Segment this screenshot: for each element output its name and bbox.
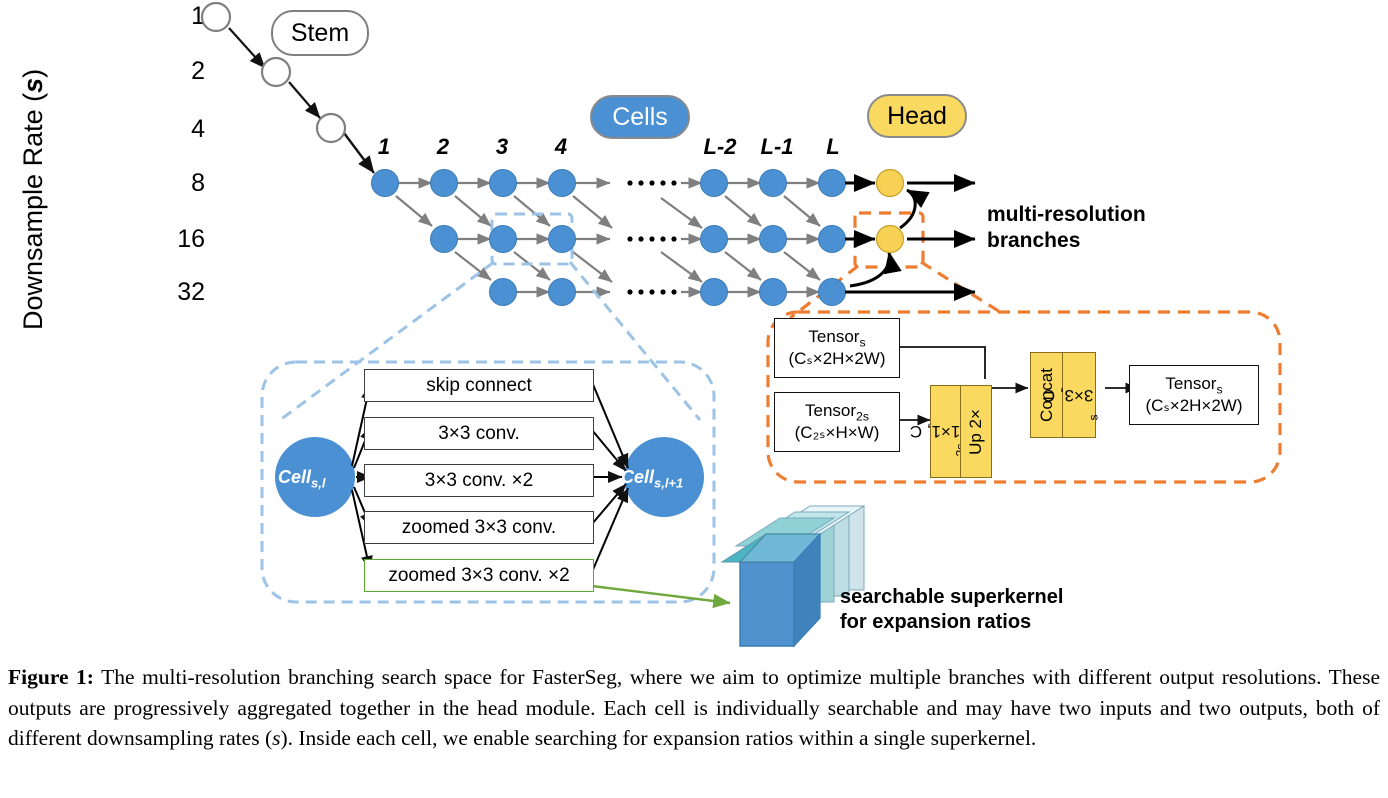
head-input-tensor-s-shape: (Cₛ×2H×2W) xyxy=(788,349,885,369)
stem-chain xyxy=(202,3,374,173)
head-op-conv-1x1: 1×1, C2s xyxy=(930,385,962,478)
cell-node-r8-c1 xyxy=(372,170,399,197)
stem-node-s2 xyxy=(262,58,290,86)
head-input-tensor-s: Tensors (Cₛ×2H×2W) xyxy=(774,318,900,378)
cell-node-r8-cL xyxy=(819,170,846,197)
head-input-tensor-s-name: Tensors xyxy=(808,327,865,349)
cell-node-r8-c4 xyxy=(549,170,576,197)
grid-ellipsis-row-32 xyxy=(627,289,676,294)
head-input-tensor-2s-name: Tensor2s xyxy=(805,401,869,423)
superkernel-link-arrow xyxy=(592,586,730,603)
cell-op-zoomed-conv-3x3-x2[interactable]: zoomed 3×3 conv. ×2 xyxy=(364,559,594,592)
tensor-top-name: Tensor xyxy=(808,327,859,346)
superkernel-label: searchable superkernel for expansion rat… xyxy=(840,585,1063,635)
conv3x3-sub: s xyxy=(1086,414,1100,420)
head-aggregate-arrow-16-to-8 xyxy=(900,190,915,228)
figure-caption: Figure 1: The multi-resolution branching… xyxy=(8,662,1380,754)
head-op-upsample-2x-text: Up 2× xyxy=(966,409,986,455)
grid-cell-nodes xyxy=(372,170,846,306)
head-output-tensor-s: Tensors (Cₛ×2H×2W) xyxy=(1129,365,1259,425)
head-output-tensor-name: Tensors xyxy=(1165,374,1222,396)
head-node-r8 xyxy=(877,170,904,197)
cell-node-r8-cL2 xyxy=(701,170,728,197)
head-output-tensor-shape: (Cₛ×2H×2W) xyxy=(1145,396,1242,416)
head-nodes xyxy=(877,170,904,253)
conv3x3-label: 3×3, C xyxy=(1043,385,1094,405)
tensor-top-sub: s xyxy=(859,335,865,349)
cell-node-r8-c3 xyxy=(490,170,517,197)
stem-node-s1 xyxy=(202,3,230,31)
cell-node-r8-c2 xyxy=(431,170,458,197)
cell-op-zoomed-conv-3x3[interactable]: zoomed 3×3 conv. xyxy=(364,511,594,544)
head-input-tensor-2s: Tensor2s (C₂ₛ×H×W) xyxy=(774,392,900,452)
stem-node-s4 xyxy=(317,114,345,142)
figure-1-container: Downsample Rate (s) 1 2 4 8 16 32 1 2 3 … xyxy=(0,0,1388,798)
cell-node-r16-c3 xyxy=(490,226,517,253)
cell-node-r8-cL1 xyxy=(760,170,787,197)
grid-ellipsis-row-16 xyxy=(627,236,676,241)
superkernel-label-line-2: for expansion ratios xyxy=(840,610,1063,635)
cell-node-r16-c2 xyxy=(431,226,458,253)
cell-node-r16-cL1 xyxy=(760,226,787,253)
caption-text-2: ). Inside each cell, we enable searching… xyxy=(280,726,1036,750)
head-op-conv-3x3: 3×3, Cs xyxy=(1062,352,1096,438)
superkernel-label-line-1: searchable superkernel xyxy=(840,585,1063,610)
conv1x1-label: 1×1, C xyxy=(910,421,961,441)
head-output-arrows xyxy=(845,183,975,292)
cell-node-r16-cL xyxy=(819,226,846,253)
head-op-upsample-2x: Up 2× xyxy=(960,385,992,478)
tensor-bottom-sub: 2s xyxy=(856,409,869,423)
tensor-bottom-name: Tensor xyxy=(805,401,856,420)
grid-ellipsis-row-8 xyxy=(627,180,676,185)
tensor-out-name: Tensor xyxy=(1165,374,1216,393)
caption-label: Figure 1: xyxy=(8,665,94,689)
cell-node-r16-c4 xyxy=(549,226,576,253)
cell-node-r16-cL2 xyxy=(701,226,728,253)
head-op-conv-3x3-text: 3×3, Cs xyxy=(1058,370,1100,421)
head-node-r16 xyxy=(877,226,904,253)
tensor-out-sub: s xyxy=(1216,382,1222,396)
head-input-tensor-2s-shape: (C₂ₛ×H×W) xyxy=(795,423,880,443)
